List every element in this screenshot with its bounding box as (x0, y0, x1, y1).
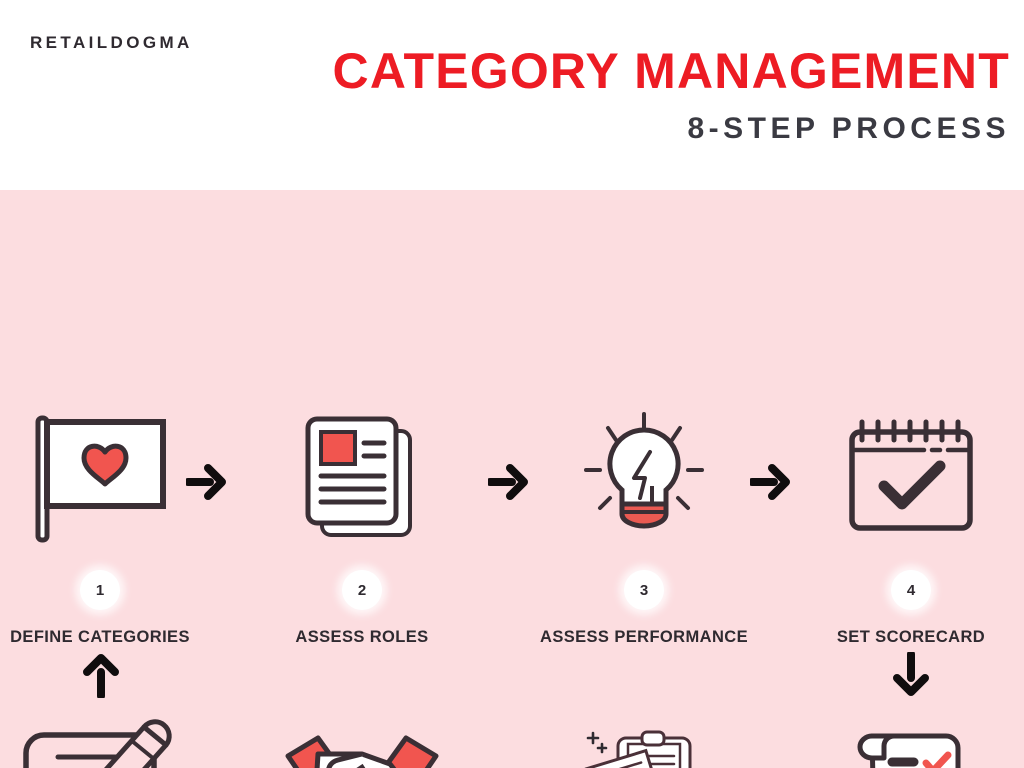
step-number: 4 (891, 570, 931, 610)
arrow-right-icon-1 (186, 462, 230, 502)
step-label: ASSESS ROLES (247, 628, 477, 647)
flag-heart-icon (0, 395, 215, 560)
step-label: DEFINE CATEGORIES (0, 628, 215, 647)
step-number: 2 (342, 570, 382, 610)
clipboard-papers-icon (529, 705, 759, 768)
step-8: 8 REVIEW (0, 705, 215, 768)
step-1: 1 DEFINE CATEGORIES (0, 395, 215, 647)
infographic-page: RETAILDOGMA CATEGORY MANAGEMENT 8-STEP P… (0, 0, 1024, 768)
step-2: 2 ASSESS ROLES (247, 395, 477, 647)
step-5: 5 DEVICE STRATEGIES (796, 705, 1024, 768)
step-label: ASSESS PERFORMANCE (529, 628, 759, 647)
documents-stack-icon (247, 395, 477, 560)
step-6: 6 SET TACTICS (529, 705, 759, 768)
brand-logo: RETAILDOGMA (30, 33, 193, 53)
header: RETAILDOGMA CATEGORY MANAGEMENT 8-STEP P… (0, 0, 1024, 190)
handshake-icon (247, 705, 477, 768)
step-number: 3 (624, 570, 664, 610)
arrow-up-icon (82, 652, 120, 698)
step-label: SET SCORECARD (796, 628, 1024, 647)
page-subtitle: 8-STEP PROCESS (687, 114, 1010, 144)
speech-bubble-pencil-icon (0, 705, 215, 768)
arrow-right-icon-2 (488, 462, 532, 502)
page-title: CATEGORY MANAGEMENT (333, 46, 1010, 96)
step-number: 1 (80, 570, 120, 610)
arrow-right-icon-3 (750, 462, 794, 502)
step-4: 4 SET SCORECARD (796, 395, 1024, 647)
step-3: 3 ASSESS PERFORMANCE (529, 395, 759, 647)
process-diagram-body: 1 DEFINE CATEGORIES (0, 190, 1024, 768)
step-7: 7 IMPLEMENT (247, 705, 477, 768)
calendar-check-icon (796, 395, 1024, 560)
lightbulb-icon (529, 395, 759, 560)
scroll-checklist-icon (796, 705, 1024, 768)
arrow-down-icon (892, 652, 930, 698)
